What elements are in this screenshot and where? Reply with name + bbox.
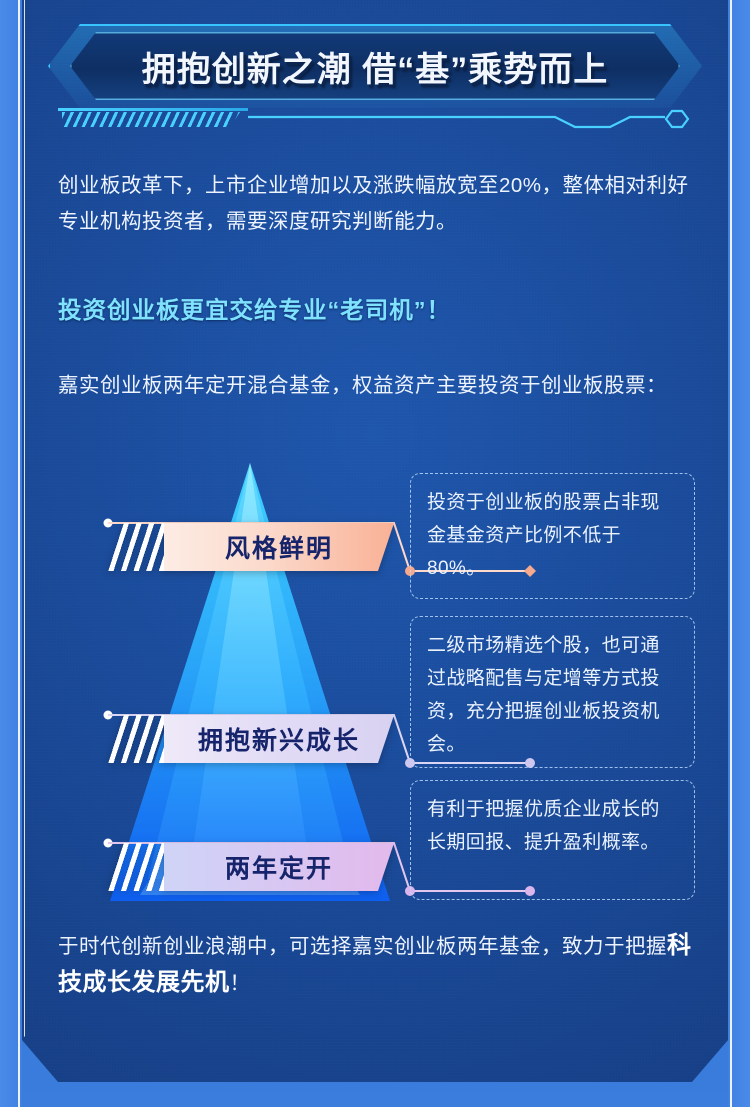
pyramid-level-1-label: 风格鲜明 (164, 523, 394, 571)
slash-accent-icon (104, 843, 164, 891)
slash-accent-icon (104, 715, 164, 763)
left-edge-strip (0, 0, 22, 1107)
callout-box-2: 二级市场精选个股，也可通过战略配售与定增等方式投资，充分把握创业板投资机会。 (410, 616, 695, 768)
pyramid-level-3[interactable]: 两年定开 (104, 843, 394, 891)
closing-paragraph: 于时代创新创业浪潮中，可选择嘉实创业板两年基金，致力于把握科技成长发展先机！ (58, 928, 698, 1002)
page-title: 拥抱创新之潮 借“基”乘势而上 (70, 32, 680, 100)
intro-paragraph: 创业板改革下，上市企业增加以及涨跌幅放宽至20%，整体相对利好专业机构投资者，需… (58, 168, 694, 240)
circuit-line-icon (0, 108, 750, 134)
poster-root: 拥抱创新之潮 借“基”乘势而上 创业板改革下，上市企业增加以及涨跌幅放宽至20%… (0, 0, 750, 1107)
pyramid-level-1[interactable]: 风格鲜明 (104, 523, 394, 571)
callout-box-1: 投资于创业板的股票占非现金基金资产比例不低于80%。 (410, 473, 695, 599)
highlight-statement: 投资创业板更宜交给专业“老司机”！ (58, 292, 694, 328)
header-decoration (0, 108, 750, 134)
left-edge-hairline (18, 0, 20, 1107)
pyramid-level-3-label: 两年定开 (164, 843, 394, 891)
closing-tail-text: ！ (230, 972, 251, 995)
right-edge-strip (728, 0, 750, 1107)
fund-description-paragraph: 嘉实创业板两年定开混合基金，权益资产主要投资于创业板股票： (58, 368, 694, 404)
pyramid-level-2-label: 拥抱新兴成长 (164, 715, 394, 763)
closing-lead-text: 于时代创新创业浪潮中，可选择嘉实创业板两年基金，致力于把握 (58, 935, 667, 958)
right-edge-hairline (730, 0, 732, 1107)
slash-accent-icon (104, 523, 164, 571)
callout-box-3: 有利于把握优质企业成长的长期回报、提升盈利概率。 (410, 780, 695, 900)
pyramid-level-2[interactable]: 拥抱新兴成长 (104, 715, 394, 763)
